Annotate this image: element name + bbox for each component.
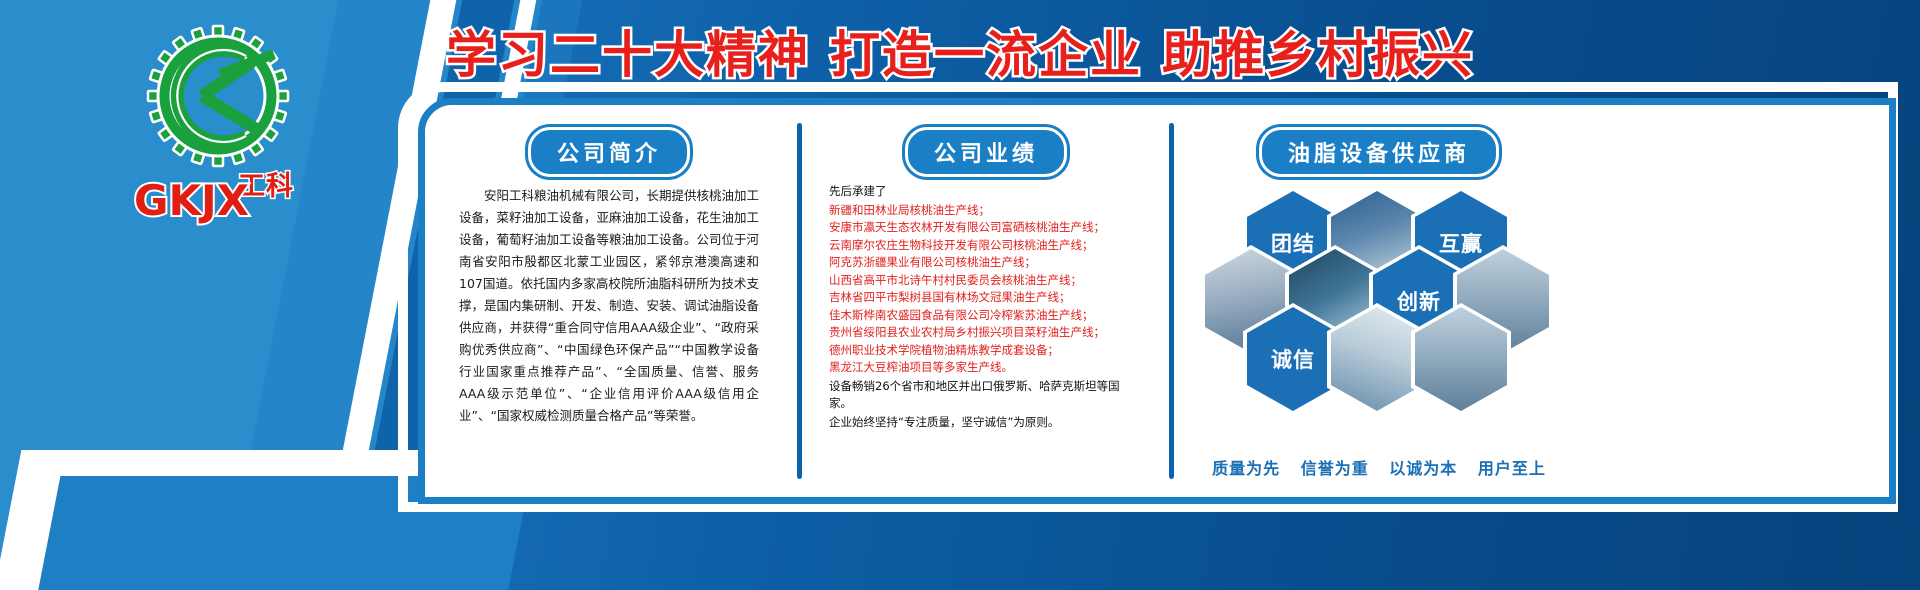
panel-oil-equipment-supplier: 油脂设备供应商 团结 互赢 创新 诚 — [1179, 105, 1579, 497]
panel-title-oil-equipment-supplier: 油脂设备供应商 — [1259, 127, 1499, 177]
project-item: 安康市瀛天生态农林开发有限公司富硒核桃油生产线； — [829, 219, 1139, 237]
gear-logo-icon — [138, 24, 298, 174]
poster-title: 学习二十大精神 打造一流企业 助推乡村振兴 — [430, 16, 1490, 86]
slogan-part-3: 以诚为本 — [1389, 459, 1457, 478]
performance-lead: 先后承建了 — [829, 183, 1139, 201]
project-item: 吉林省四平市梨树县国有林场文冠果油生产线； — [829, 289, 1139, 307]
company-profile-text: 安阳工科粮油机械有限公司，长期提供核桃油加工设备，菜籽油加工设备，亚麻油加工设备… — [459, 185, 759, 427]
hexagon-grid: 团结 互赢 创新 诚信 — [1199, 177, 1554, 407]
slogan-part-1: 质量为先 — [1212, 459, 1280, 478]
panel-company-performance: 公司业绩 先后承建了 新疆和田林业局核桃油生产线； 安康市瀛天生态农林开发有限公… — [807, 105, 1165, 497]
title-part-3: 助推乡村振兴 — [1162, 15, 1474, 87]
project-item: 佳木斯桦南农盛园食品有限公司冷榨紫苏油生产线； — [829, 307, 1139, 325]
performance-tail: 设备畅销26个省市和地区并出口俄罗斯、哈萨克斯坦等国家。 — [829, 378, 1139, 413]
title-part-2: 打造一流企业 — [830, 15, 1142, 87]
panel-company-profile: 公司简介 安阳工科粮油机械有限公司，长期提供核桃油加工设备，菜籽油加工设备，亚麻… — [425, 105, 793, 497]
slogan-part-2: 信誉为重 — [1301, 459, 1369, 478]
panel-title-company-profile: 公司简介 — [528, 127, 690, 177]
logo-english-name: GKJX — [134, 176, 249, 225]
company-performance-text: 先后承建了 新疆和田林业局核桃油生产线； 安康市瀛天生态农林开发有限公司富硒核桃… — [829, 183, 1139, 431]
content-area: 公司简介 安阳工科粮油机械有限公司，长期提供核桃油加工设备，菜籽油加工设备，亚麻… — [425, 105, 1889, 497]
supplier-slogan: 质量为先 信誉为重 以诚为本 用户至上 — [1179, 455, 1579, 479]
title-part-1: 学习二十大精神 — [446, 15, 810, 87]
project-item: 新疆和田林业局核桃油生产线； — [829, 202, 1139, 220]
project-item: 阿克苏浙疆果业有限公司核桃油生产线； — [829, 254, 1139, 272]
poster-canvas: 工科 GKJX 学习二十大精神 打造一流企业 助推乡村振兴 公司简介 安阳工科粮… — [0, 0, 1920, 590]
project-item: 黑龙江大豆榨油项目等多家生产线。 — [829, 359, 1139, 377]
project-item: 山西省高平市北诗午村村民委员会核桃油生产线； — [829, 272, 1139, 290]
panel-title-company-performance: 公司业绩 — [905, 127, 1067, 177]
project-item: 贵州省绥阳县农业农村局乡村振兴项目菜籽油生产线； — [829, 324, 1139, 342]
project-item: 云南摩尔农庄生物科技开发有限公司核桃油生产线； — [829, 237, 1139, 255]
project-item: 德州职业技术学院植物油精炼教学成套设备； — [829, 342, 1139, 360]
company-logo: 工科 GKJX — [120, 24, 330, 204]
slogan-part-4: 用户至上 — [1478, 459, 1546, 478]
panel-divider-2 — [1169, 123, 1174, 479]
panel-divider-1 — [797, 123, 802, 479]
performance-tail: 企业始终坚持“专注质量，坚守诚信”为原则。 — [829, 414, 1139, 432]
